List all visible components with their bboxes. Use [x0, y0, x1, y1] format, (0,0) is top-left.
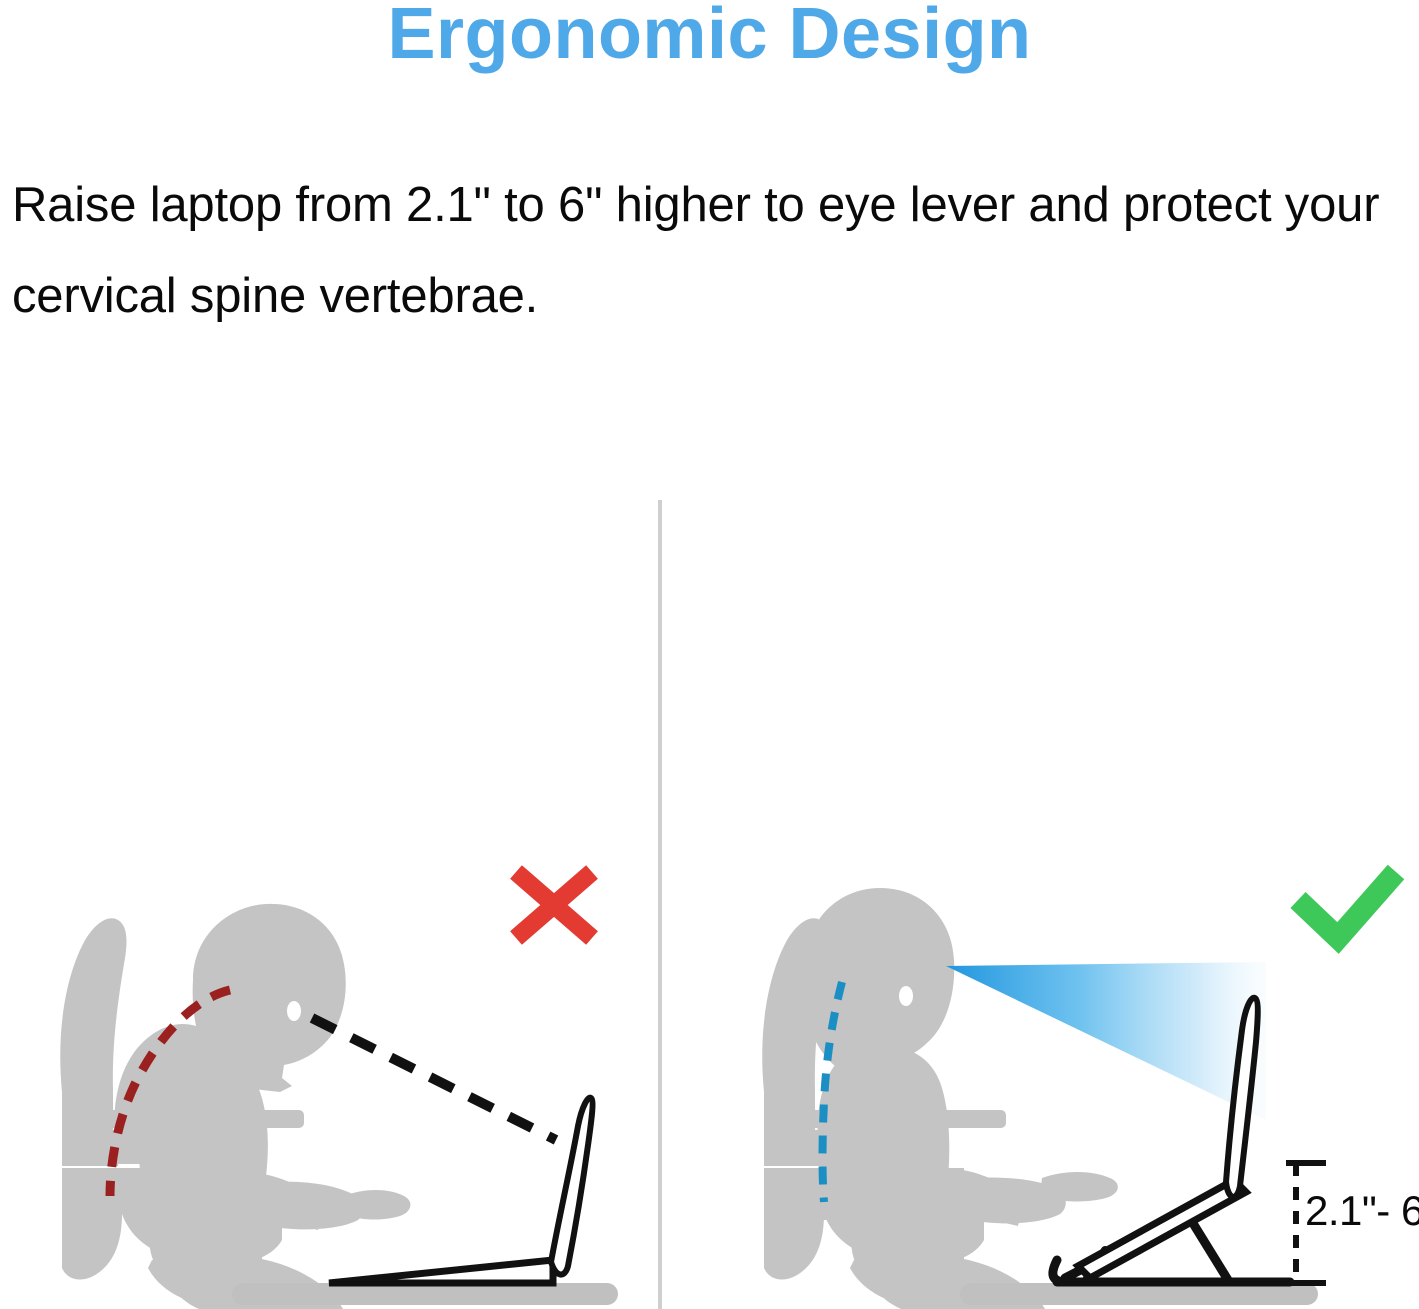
height-dimension-label: 2.1"- 6" — [1305, 1187, 1419, 1235]
cross-icon — [516, 872, 592, 938]
person-silhouette-left — [114, 904, 438, 1309]
page-subtitle: Raise laptop from 2.1" to 6" higher to e… — [12, 160, 1392, 342]
check-icon — [1298, 872, 1396, 938]
sight-line-bad — [312, 1018, 556, 1140]
ergonomic-design-infographic: Ergonomic Design Raise laptop from 2.1" … — [0, 0, 1419, 1309]
panel-incorrect — [28, 872, 618, 1309]
sight-cone-good — [946, 962, 1266, 1120]
illustration-area: 2.1"- 6" — [0, 330, 1419, 1309]
panel-correct — [730, 872, 1396, 1309]
page-title: Ergonomic Design — [0, 0, 1419, 72]
